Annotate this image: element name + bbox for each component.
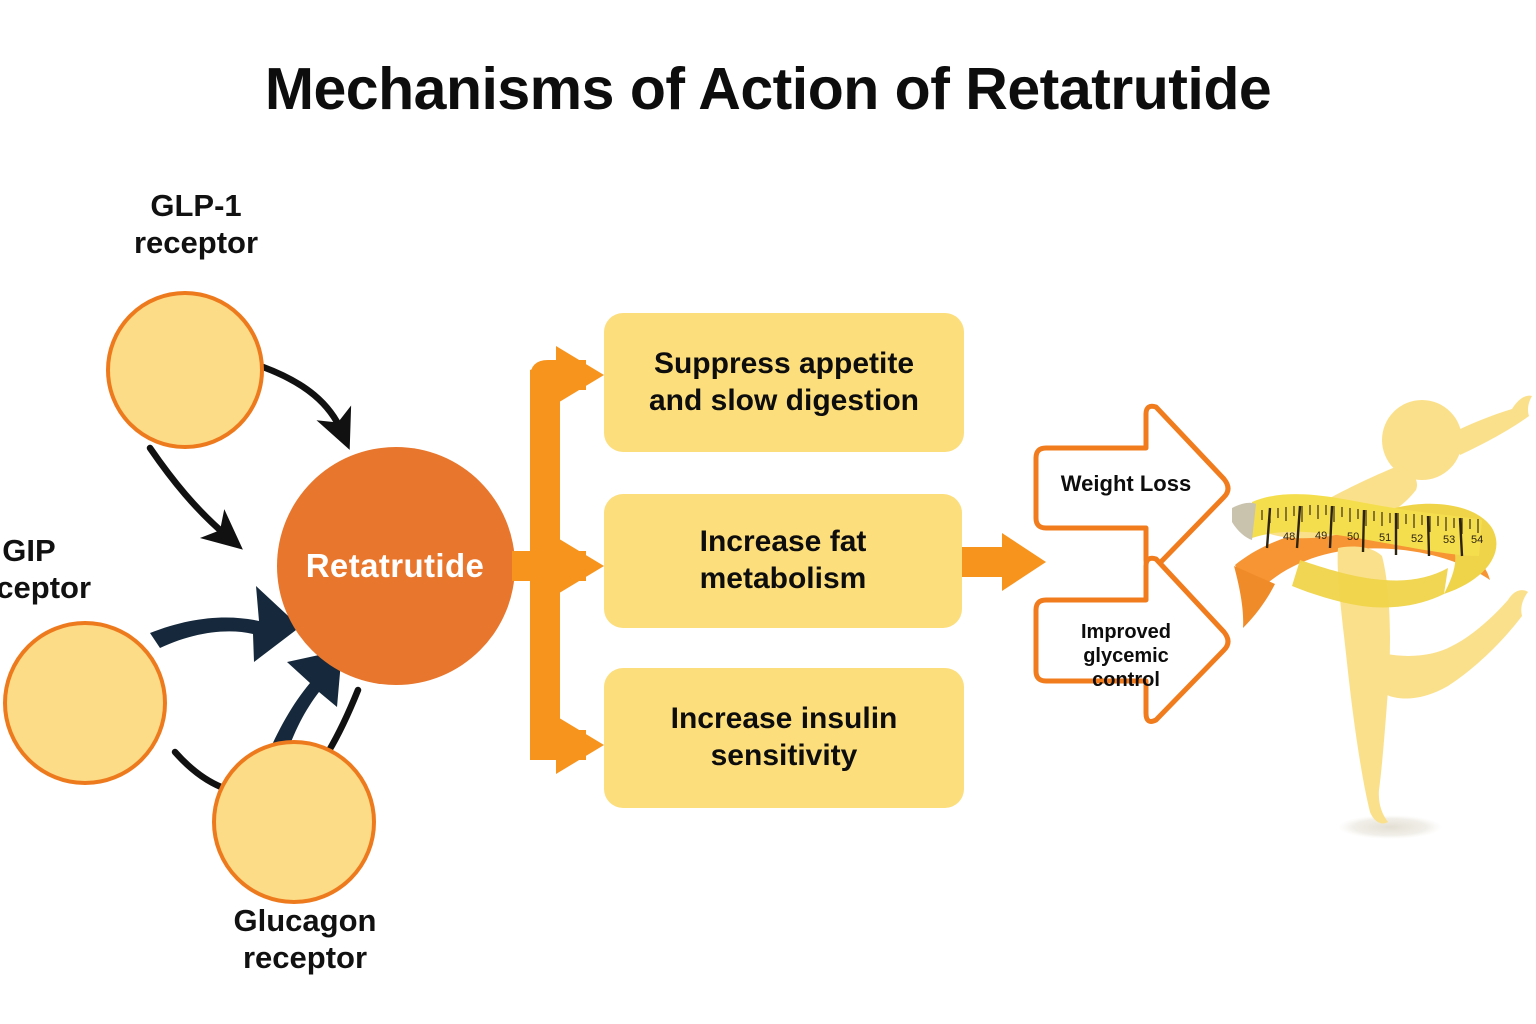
retatrutide-node-label: Retatrutide	[268, 547, 522, 585]
svg-text:51: 51	[1379, 532, 1391, 544]
effect-box-appetite[interactable]: Suppress appetite and slow digestion	[604, 313, 964, 452]
receptor-circle-gip	[5, 623, 165, 783]
effect-box-insulin-sensitivity[interactable]: Increase insulin sensitivity	[604, 668, 964, 808]
effect-box-fat-metabolism[interactable]: Increase fat metabolism	[604, 494, 962, 628]
receptor-label-glucagon: Glucagon receptor	[190, 903, 420, 976]
outcome-label-glycemic-control: Improved glycemic control	[1040, 620, 1212, 692]
receptor-label-glp1: GLP-1 receptor	[105, 188, 287, 261]
figure-arm-right	[1452, 396, 1532, 455]
effect-box-label: Increase fat metabolism	[700, 524, 867, 597]
outcome-label-weight-loss: Weight Loss	[1040, 471, 1212, 497]
svg-text:54: 54	[1471, 534, 1483, 546]
outcome-feed-arrow	[962, 533, 1046, 591]
figure-shadow	[1338, 815, 1442, 839]
svg-text:52: 52	[1411, 533, 1423, 545]
receptor-circle-glp1	[108, 293, 262, 447]
branch-arrows	[512, 346, 604, 774]
svg-text:50: 50	[1347, 531, 1359, 543]
svg-text:53: 53	[1443, 534, 1455, 546]
effect-box-label: Suppress appetite and slow digestion	[649, 346, 919, 419]
dancing-figure-illustration: 48 49 50 51 52 53 54	[1232, 396, 1532, 839]
svg-text:48: 48	[1283, 531, 1295, 543]
effect-box-label: Increase insulin sensitivity	[671, 701, 898, 774]
receptor-label-gip: GIP receptor	[0, 533, 120, 606]
svg-text:49: 49	[1315, 530, 1327, 542]
receptor-circle-glucagon	[214, 742, 374, 902]
infographic-canvas: 48 49 50 51 52 53 54 Mechanisms of Actio…	[0, 0, 1536, 1024]
page-title: Mechanisms of Action of Retatrutide	[0, 55, 1536, 123]
